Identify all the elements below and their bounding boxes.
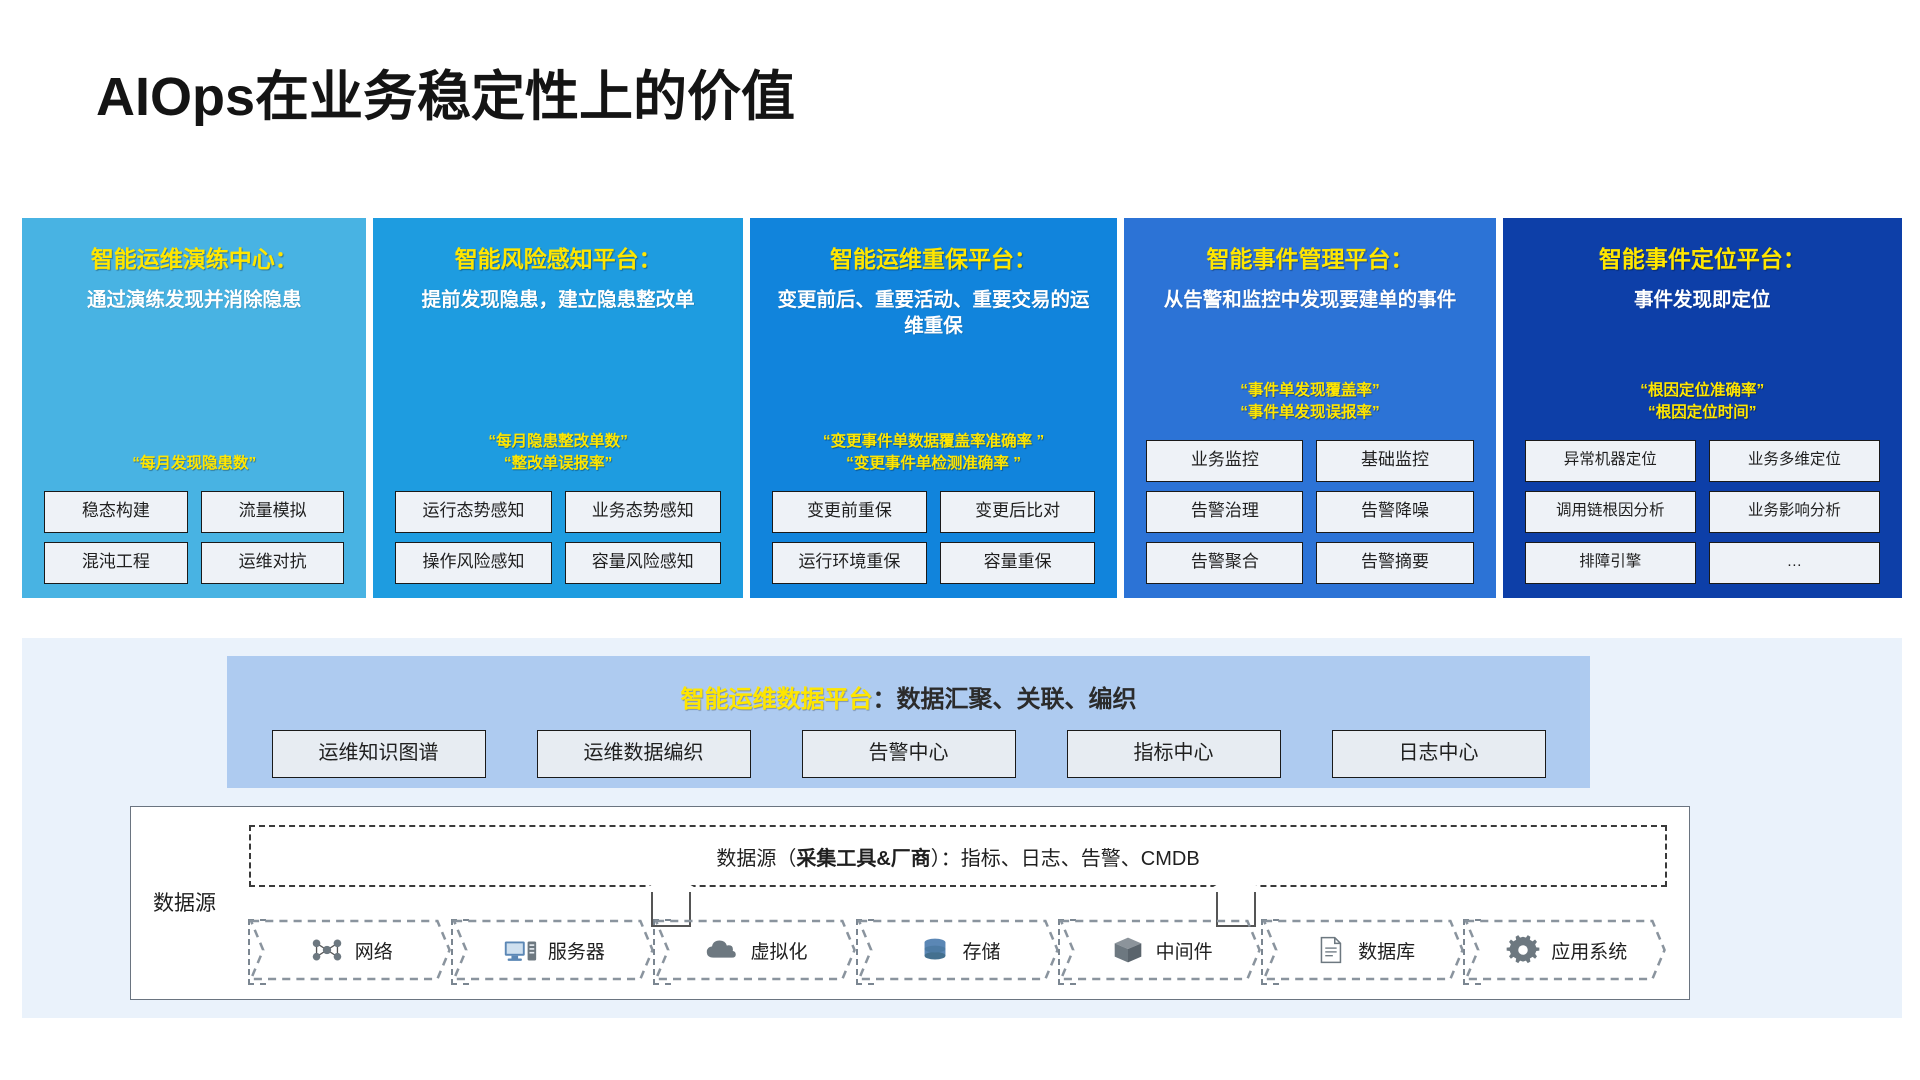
data-source-item-label: 网络 — [355, 937, 393, 964]
platform-card-risk-awareness[interactable]: 智能风险感知平台： 提前发现隐患，建立隐患整改单 “每月隐患整改单数” “整改单… — [373, 218, 742, 598]
metric-line: “变更事件单数据覆盖率准确率 ” — [823, 431, 1044, 453]
card-title: 智能运维演练中心： — [91, 240, 298, 274]
data-source-item-strip: 网络 — [249, 917, 1667, 983]
metric-line: “事件单发现覆盖率” — [1240, 380, 1380, 402]
card-subtitle: 变更前后、重要活动、重要交易的运维重保 — [769, 288, 1099, 339]
chip-item[interactable]: 容量风险感知 — [565, 542, 721, 584]
platform-card-event-management[interactable]: 智能事件管理平台： 从告警和监控中发现要建单的事件 “事件单发现覆盖率” “事件… — [1124, 218, 1495, 598]
box-package-icon — [1109, 933, 1147, 967]
card-metrics: “变更事件单数据覆盖率准确率 ” “变更事件单检测准确率 ” — [823, 431, 1044, 475]
data-platform-title-rest: ：数据汇聚、关联、编织 — [873, 686, 1137, 713]
data-source-item-middleware[interactable]: 中间件 — [1059, 919, 1262, 981]
card-chip-grid: 业务监控 基础监控 告警治理 告警降噪 告警聚合 告警摘要 — [1134, 440, 1485, 584]
data-platform-chip-row: 运维知识图谱 运维数据编织 告警中心 指标中心 日志中心 — [227, 730, 1590, 778]
card-chip-grid: 变更前重保 变更后比对 运行环境重保 容量重保 — [760, 491, 1107, 584]
platform-card-event-localization[interactable]: 智能事件定位平台： 事件发现即定位 “根因定位准确率” “根因定位时间” 异常机… — [1503, 218, 1902, 598]
data-source-item-label: 服务器 — [548, 937, 605, 964]
chip-item[interactable]: 容量重保 — [940, 542, 1095, 584]
chip-item[interactable]: 基础监控 — [1316, 440, 1473, 482]
chip-item[interactable]: 运行环境重保 — [772, 542, 927, 584]
database-cylinder-icon — [916, 933, 954, 967]
cloud-icon — [703, 933, 741, 967]
data-source-item-label: 中间件 — [1156, 937, 1213, 964]
data-source-item-application[interactable]: 应用系统 — [1464, 919, 1667, 981]
data-source-item-label: 存储 — [963, 937, 1001, 964]
chip-item[interactable]: 稳态构建 — [44, 491, 188, 533]
platform-card-ops-assurance[interactable]: 智能运维重保平台： 变更前后、重要活动、重要交易的运维重保 “变更事件单数据覆盖… — [750, 218, 1117, 598]
chip-item[interactable]: 操作风险感知 — [395, 542, 551, 584]
card-subtitle: 提前发现隐患，建立隐患整改单 — [422, 288, 695, 314]
document-icon — [1311, 933, 1349, 967]
metric-line: “根因定位时间” — [1640, 402, 1764, 424]
chip-item[interactable]: 业务监控 — [1146, 440, 1303, 482]
chip-item[interactable]: 调用链根因分析 — [1525, 491, 1696, 533]
platform-card-drill-center[interactable]: 智能运维演练中心： 通过演练发现并消除隐患 “每月发现隐患数” 稳态构建 流量模… — [22, 218, 366, 598]
chip-item[interactable]: 排障引擎 — [1525, 542, 1696, 584]
chip-item[interactable]: 变更前重保 — [772, 491, 927, 533]
card-metrics: “每月隐患整改单数” “整改单误报率” — [488, 431, 628, 475]
data-source-item-label: 数据库 — [1358, 937, 1415, 964]
card-title: 智能运维重保平台： — [830, 240, 1037, 274]
banner-prefix: 数据源（ — [716, 848, 796, 870]
chip-item[interactable]: 流量模拟 — [201, 491, 345, 533]
chip-item[interactable]: 混沌工程 — [44, 542, 188, 584]
data-source-item-server[interactable]: 服务器 — [452, 919, 655, 981]
data-source-item-virtualization[interactable]: 虚拟化 — [654, 919, 857, 981]
chip-item[interactable]: 告警聚合 — [1146, 542, 1303, 584]
metric-line: “每月发现隐患数” — [132, 453, 256, 475]
data-platform-chip[interactable]: 告警中心 — [802, 730, 1016, 778]
network-graph-icon — [308, 933, 346, 967]
card-subtitle: 通过演练发现并消除隐患 — [87, 288, 302, 314]
data-platform-chip[interactable]: 指标中心 — [1067, 730, 1281, 778]
card-chip-grid: 异常机器定位 业务多维定位 调用链根因分析 业务影响分析 排障引擎 … — [1513, 440, 1892, 584]
card-subtitle: 从告警和监控中发现要建单的事件 — [1164, 288, 1457, 314]
card-chip-grid: 稳态构建 流量模拟 混沌工程 运维对抗 — [32, 491, 356, 584]
data-platform-chip[interactable]: 运维数据编织 — [537, 730, 751, 778]
card-chip-grid: 运行态势感知 业务态势感知 操作风险感知 容量风险感知 — [383, 491, 732, 584]
chip-item[interactable]: 告警摘要 — [1316, 542, 1473, 584]
data-platform-band: 智能运维数据平台：数据汇聚、关联、编织 运维知识图谱 运维数据编织 告警中心 指… — [227, 656, 1590, 788]
data-platform-title-highlight: 智能运维数据平台 — [681, 686, 873, 713]
data-platform-chip[interactable]: 日志中心 — [1332, 730, 1546, 778]
foundation-panel: 智能运维数据平台：数据汇聚、关联、编织 运维知识图谱 运维数据编织 告警中心 指… — [22, 638, 1902, 1018]
data-source-item-network[interactable]: 网络 — [249, 919, 452, 981]
data-source-banner: 数据源（采集工具&厂商）：指标、日志、告警、CMDB — [249, 825, 1667, 887]
platform-card-row: 智能运维演练中心： 通过演练发现并消除隐患 “每月发现隐患数” 稳态构建 流量模… — [22, 218, 1902, 598]
chip-item[interactable]: 业务多维定位 — [1709, 440, 1880, 482]
data-source-banner-text: 数据源（采集工具&厂商）：指标、日志、告警、CMDB — [716, 842, 1199, 871]
chip-item[interactable]: 异常机器定位 — [1525, 440, 1696, 482]
banner-bold: 采集工具&厂商 — [796, 848, 930, 870]
data-source-item-storage[interactable]: 存储 — [857, 919, 1060, 981]
page-title: AIOps在业务稳定性上的价值 — [96, 52, 795, 131]
data-source-label: 数据源 — [153, 887, 216, 917]
data-source-box: 数据源 数据源（采集工具&厂商）：指标、日志、告警、CMDB — [130, 806, 1690, 1000]
metric-line: “根因定位准确率” — [1640, 380, 1764, 402]
metric-line: “每月隐患整改单数” — [488, 431, 628, 453]
chip-item[interactable]: … — [1709, 542, 1880, 584]
data-platform-title: 智能运维数据平台：数据汇聚、关联、编织 — [227, 679, 1590, 714]
chip-item[interactable]: 运行态势感知 — [395, 491, 551, 533]
data-source-item-label: 虚拟化 — [750, 937, 807, 964]
banner-suffix: ）：指标、日志、告警、CMDB — [931, 848, 1200, 870]
chip-item[interactable]: 告警降噪 — [1316, 491, 1473, 533]
data-source-item-database[interactable]: 数据库 — [1262, 919, 1465, 981]
slide-canvas: AIOps在业务稳定性上的价值 智能运维演练中心： 通过演练发现并消除隐患 “每… — [0, 0, 1920, 1080]
metric-line: “整改单误报率” — [488, 453, 628, 475]
card-subtitle: 事件发现即定位 — [1634, 288, 1771, 314]
card-title: 智能事件管理平台： — [1206, 240, 1413, 274]
card-metrics: “每月发现隐患数” — [132, 453, 256, 475]
data-source-item-label: 应用系统 — [1551, 937, 1627, 964]
card-title: 智能事件定位平台： — [1599, 240, 1806, 274]
chip-item[interactable]: 变更后比对 — [940, 491, 1095, 533]
server-monitor-icon — [501, 933, 539, 967]
card-metrics: “根因定位准确率” “根因定位时间” — [1640, 380, 1764, 424]
metric-line: “变更事件单检测准确率 ” — [823, 453, 1044, 475]
chip-item[interactable]: 告警治理 — [1146, 491, 1303, 533]
chip-item[interactable]: 业务态势感知 — [565, 491, 721, 533]
card-metrics: “事件单发现覆盖率” “事件单发现误报率” — [1240, 380, 1380, 424]
data-platform-chip[interactable]: 运维知识图谱 — [272, 730, 486, 778]
chip-item[interactable]: 运维对抗 — [201, 542, 345, 584]
chip-item[interactable]: 业务影响分析 — [1709, 491, 1880, 533]
gear-icon — [1504, 933, 1542, 967]
card-title: 智能风险感知平台： — [455, 240, 662, 274]
metric-line: “事件单发现误报率” — [1240, 402, 1380, 424]
